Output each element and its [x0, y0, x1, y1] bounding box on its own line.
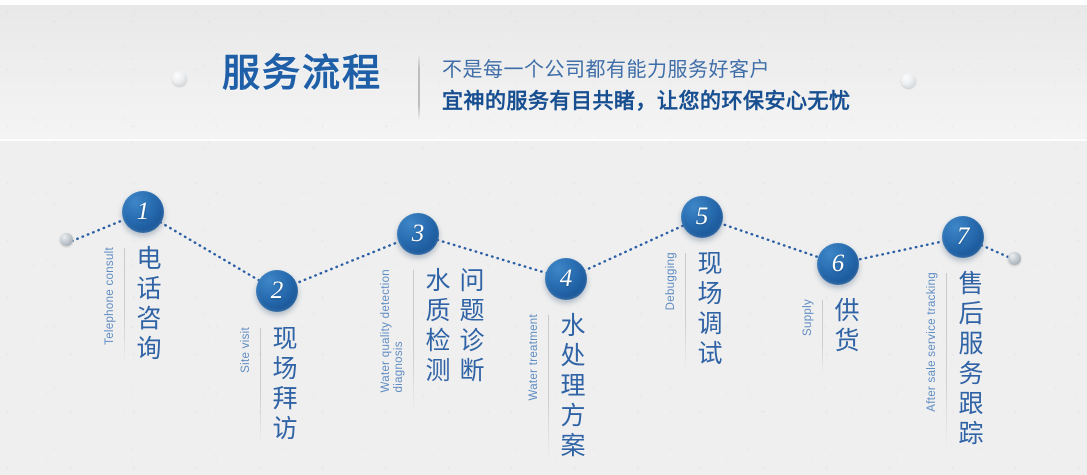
page-title: 服务流程 — [222, 51, 382, 95]
step-label-en-2: Site visit — [240, 327, 253, 373]
dotted-connector-line — [72, 212, 1015, 291]
step-label-group-3: 问题诊断 水质检测 Water quality detection diagno… — [380, 267, 486, 416]
step-label-en-7: After sale service tracking — [926, 272, 939, 412]
step-label-en-1: Telephone consult — [104, 247, 117, 345]
step-label-cn-3-primary: 问题诊断 — [455, 267, 486, 387]
label-divider-6 — [822, 300, 823, 374]
header-band: 服务流程 不是每一个公司都有能力服务好客户 宜神的服务有目共睹，让您的环保安心无… — [0, 5, 1087, 140]
header-content: 服务流程 不是每一个公司都有能力服务好客户 宜神的服务有目共睹，让您的环保安心无… — [222, 51, 851, 120]
header-subtitle-line1: 不是每一个公司都有能力服务好客户 — [442, 55, 851, 83]
label-divider-3 — [413, 270, 414, 416]
step-label-group-2: 现场拜访 Site visit — [240, 325, 299, 445]
header-subtitles: 不是每一个公司都有能力服务好客户 宜神的服务有目共睹，让您的环保安心无忧 — [442, 51, 851, 117]
step-label-cn-5: 现场调试 — [693, 250, 724, 370]
service-process-banner: 服务流程 不是每一个公司都有能力服务好客户 宜神的服务有目共睹，让您的环保安心无… — [0, 0, 1087, 475]
rivet-decoration-left — [172, 71, 187, 86]
label-divider-7 — [946, 273, 947, 451]
label-divider-5 — [685, 253, 686, 370]
step-label-group-7: 售后服务跟踪 After sale service tracking — [926, 270, 985, 451]
step-label-cn-1: 电话咨询 — [132, 245, 163, 365]
header-subtitle-line2: 宜神的服务有目共睹，让您的环保安心无忧 — [442, 85, 851, 117]
step-label-cn-3-secondary: 水质检测 — [421, 267, 452, 387]
step-label-group-5: 现场调试 Debugging — [665, 250, 724, 370]
step-label-en-3: Water quality detection diagnosis — [380, 269, 406, 392]
step-label-group-6: 供货 Supply — [802, 297, 861, 374]
step-number-badge-6: 6 — [817, 243, 859, 285]
step-label-en-5: Debugging — [665, 252, 678, 310]
flow-endpoint-end — [1008, 252, 1021, 265]
label-divider-2 — [260, 328, 261, 445]
step-label-group-1: 电话咨询 Telephone consult — [104, 245, 163, 365]
step-number-badge-5: 5 — [681, 196, 723, 238]
step-number-badge-1: 1 — [122, 191, 164, 233]
step-label-en-4: Water treatment — [528, 314, 541, 401]
step-label-cn-7: 售后服务跟踪 — [954, 270, 985, 450]
step-label-en-6: Supply — [802, 299, 815, 336]
step-label-group-4: 水处理方案 Water treatment — [528, 312, 587, 462]
flow-endpoint-start — [60, 233, 73, 246]
rivet-decoration-right — [901, 73, 916, 88]
step-number-badge-2: 2 — [256, 270, 298, 312]
label-divider-4 — [548, 315, 549, 462]
process-flow-area: 1 电话咨询 Telephone consult 2 现场拜访 Site vis… — [0, 139, 1087, 475]
step-number-badge-7: 7 — [942, 216, 984, 258]
step-number-badge-3: 3 — [397, 213, 439, 255]
step-label-cn-4: 水处理方案 — [556, 312, 587, 462]
header-vertical-divider — [418, 54, 420, 120]
label-divider-1 — [124, 248, 125, 365]
step-number-badge-4: 4 — [545, 258, 587, 300]
step-label-cn-2: 现场拜访 — [268, 325, 299, 445]
step-label-cn-6: 供货 — [830, 297, 861, 357]
